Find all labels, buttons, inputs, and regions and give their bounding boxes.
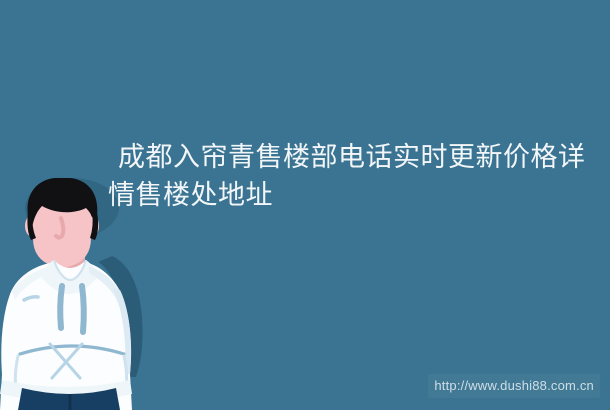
- banner-image: 成都入帘青售楼部电话实时更新价格详情售楼处地址 http://www.dushi…: [0, 0, 610, 410]
- headline-text: 成都入帘青售楼部电话实时更新价格详情售楼处地址: [108, 138, 586, 214]
- drawstring-right: [82, 286, 84, 332]
- watermark-url: http://www.dushi88.com.cn: [428, 374, 600, 398]
- drawstring-left: [60, 286, 62, 328]
